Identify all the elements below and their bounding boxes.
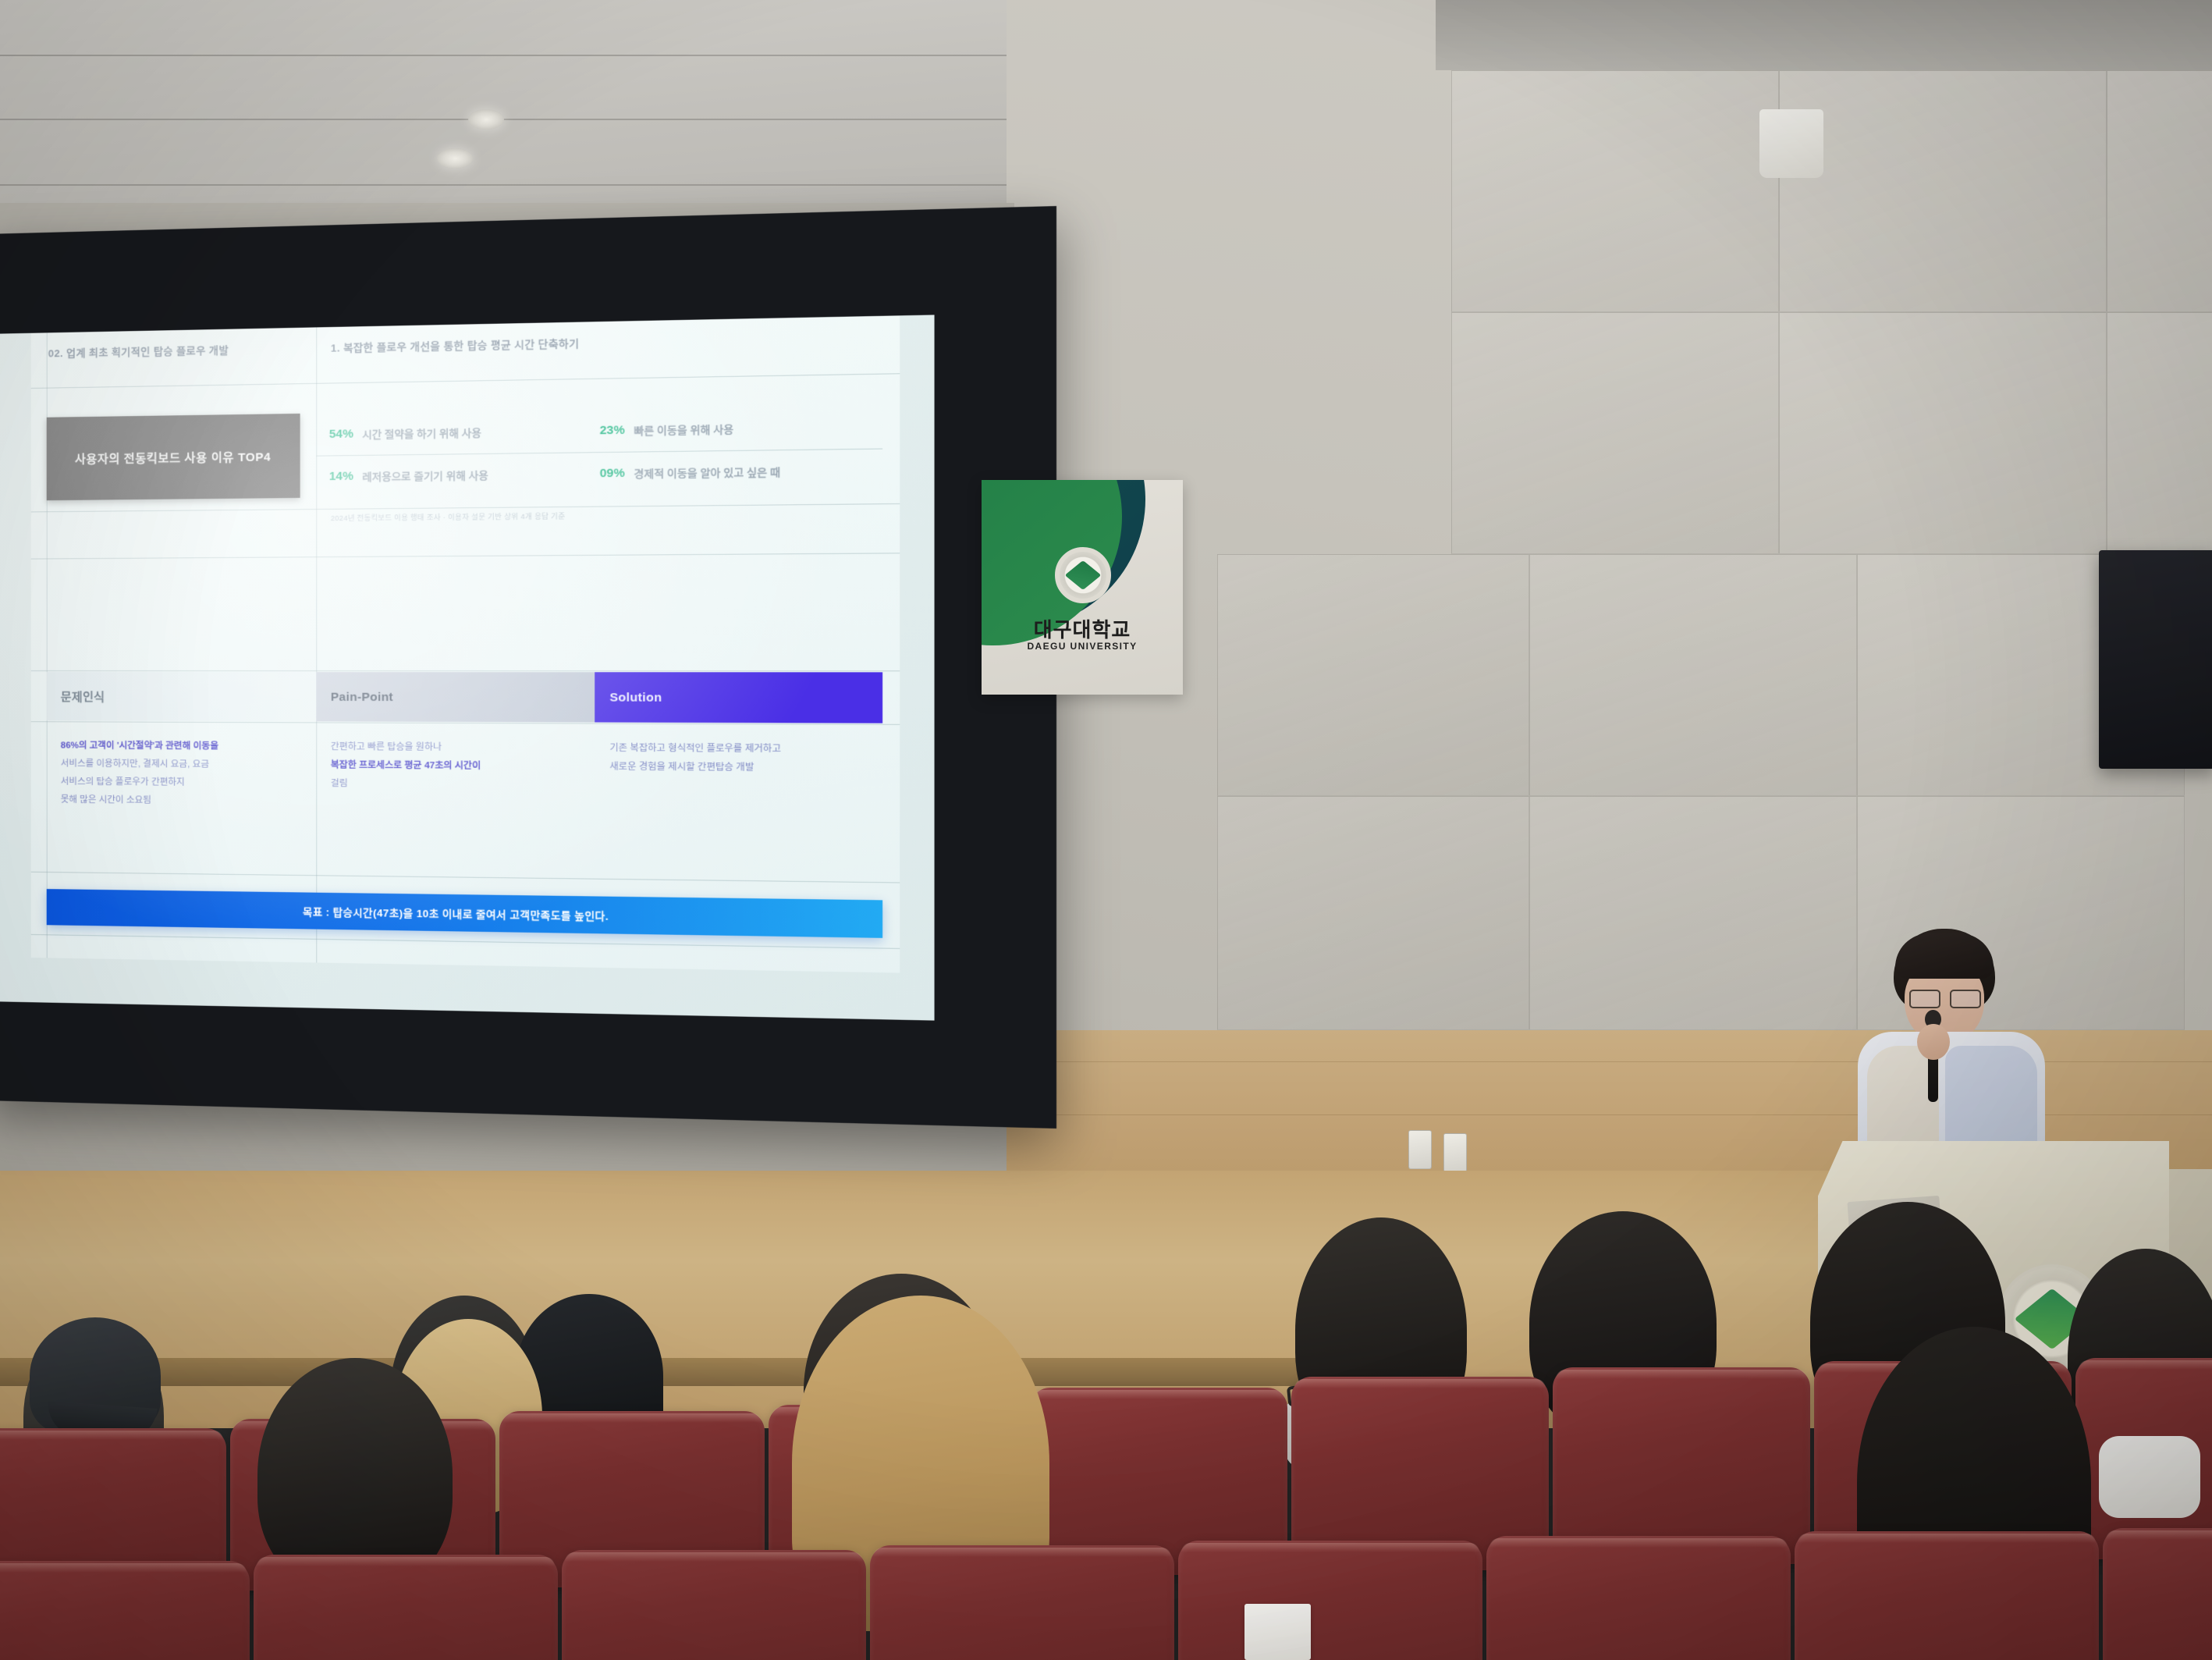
stat-percent: 09% [600, 466, 625, 480]
auditorium-scene: 02. 업계 최초 획기적인 탑승 플로우 개발 1. 복잡한 플로우 개선을 … [0, 0, 2212, 1660]
presentation-slide: 02. 업계 최초 획기적인 탑승 플로우 개발 1. 복잡한 플로우 개선을 … [31, 315, 900, 972]
stat-item: 54% 시간 절약을 하기 위해 사용 [316, 409, 586, 455]
body-line: 걸림 [331, 775, 587, 795]
stat-item: 14% 레저용으로 즐기기 위해 사용 [316, 452, 586, 497]
column-body-painpoint: 간편하고 빠른 탑승을 원하나 복잡한 프로세스로 평균 47초의 시간이 걸림 [331, 738, 587, 795]
auditorium-seat[interactable] [1486, 1536, 1791, 1660]
wall-outlet[interactable] [1408, 1130, 1432, 1169]
usage-reason-label-box: 사용자의 전동킥보드 사용 이유 TOP4 [47, 414, 300, 500]
column-header-solution: Solution [595, 672, 882, 723]
auditorium-seat[interactable] [870, 1545, 1174, 1660]
source-note: 2024년 전동킥보드 이용 행태 조사 · 이용자 설문 기반 상위 4개 응… [331, 510, 566, 523]
paper-sheet [1244, 1604, 1311, 1660]
wall-outlet[interactable] [1443, 1133, 1467, 1172]
column-header-problem-label: 문제인식 [47, 688, 105, 705]
column-body-problem: 86%의 고객이 '시간절약'과 관련해 이동을 서비스를 이용하지만, 결제시… [61, 737, 308, 811]
slide-header-right: 1. 복잡한 플로우 개선을 통한 탑승 평균 시간 단축하기 [331, 335, 579, 355]
body-line: 86%의 고객이 '시간절약'과 관련해 이동을 [61, 737, 308, 756]
wall-sconce [1759, 109, 1823, 178]
university-emblem-icon [1055, 547, 1111, 603]
column-body-solution: 기존 복잡하고 형식적인 플로우를 제거하고 새로운 경험을 제시할 간편탑승 … [609, 739, 874, 778]
ceiling-light [468, 109, 504, 130]
column-header-painpoint: Pain-Point [316, 672, 595, 722]
usage-stats-grid: 54% 시간 절약을 하기 위해 사용 23% 빠른 이동을 위해 사용 14%… [316, 405, 882, 498]
banner-korean-name: 대구대학교 [982, 614, 1183, 643]
upper-right-wall [1436, 0, 2212, 70]
auditorium-seat[interactable] [0, 1561, 250, 1660]
face-mask-icon [2099, 1436, 2200, 1518]
body-line: 서비스를 이용하지만, 결제시 요금, 요금 [61, 755, 308, 775]
daegu-university-banner: 대구대학교 DAEGU UNIVERSITY [982, 480, 1183, 695]
goal-banner-text: 목표 : 탑승시간(47초)을 10초 이내로 줄여서 고객만족도를 높인다. [303, 903, 609, 922]
body-line: 못해 많은 시간이 소요됨 [61, 791, 308, 812]
stat-label: 레저용으로 즐기기 위해 사용 [362, 467, 488, 483]
body-line: 복잡한 프로세스로 평균 47초의 시간이 [331, 756, 587, 777]
glasses-icon [1909, 990, 1981, 1005]
body-line: 간편하고 빠른 탑승을 원하나 [331, 738, 587, 758]
usage-reason-label: 사용자의 전동킥보드 사용 이유 TOP4 [75, 448, 271, 467]
stat-label: 시간 절약을 하기 위해 사용 [362, 425, 481, 442]
ceiling-light [437, 148, 473, 169]
auditorium-seat[interactable] [562, 1550, 866, 1660]
auditorium-seat[interactable] [254, 1555, 558, 1660]
column-header-solution-label: Solution [595, 691, 662, 705]
stat-label: 경제적 이동을 알아 있고 싶은 때 [634, 464, 781, 481]
ceiling-speaker [2099, 550, 2212, 769]
body-line: 새로운 경험을 제시할 간편탑승 개발 [609, 758, 874, 778]
auditorium-seat[interactable] [1795, 1531, 2099, 1660]
banner-english-name: DAEGU UNIVERSITY [982, 641, 1183, 652]
stage-edge [0, 1358, 1326, 1386]
goal-banner: 목표 : 탑승시간(47초)을 10초 이내로 줄여서 고객만족도를 높인다. [47, 889, 882, 938]
stat-percent: 54% [329, 427, 353, 441]
column-header-problem: 문제인식 [47, 672, 317, 721]
stat-percent: 23% [600, 423, 625, 437]
column-header-painpoint-label: Pain-Point [316, 690, 393, 704]
body-line: 서비스의 탑승 플로우가 간편하지 [61, 773, 308, 793]
body-line: 기존 복잡하고 형식적인 플로우를 제거하고 [609, 739, 874, 759]
stat-percent: 14% [329, 469, 353, 483]
auditorium-seat[interactable] [1178, 1541, 1482, 1660]
auditorium-seat[interactable] [2103, 1528, 2212, 1660]
projection-screen: 02. 업계 최초 획기적인 탑승 플로우 개발 1. 복잡한 플로우 개선을 … [0, 315, 935, 1020]
auditorium-seat[interactable] [1553, 1367, 1810, 1564]
stat-label: 빠른 이동을 위해 사용 [634, 421, 734, 438]
projection-screen-frame: 02. 업계 최초 획기적인 탑승 플로우 개발 1. 복잡한 플로우 개선을 … [0, 206, 1056, 1129]
stat-item: 23% 빠른 이동을 위해 사용 [587, 405, 883, 453]
slide-header-left: 02. 업계 최초 획기적인 탑승 플로우 개발 [48, 342, 229, 361]
stat-item: 09% 경제적 이동을 알아 있고 싶은 때 [587, 449, 883, 496]
